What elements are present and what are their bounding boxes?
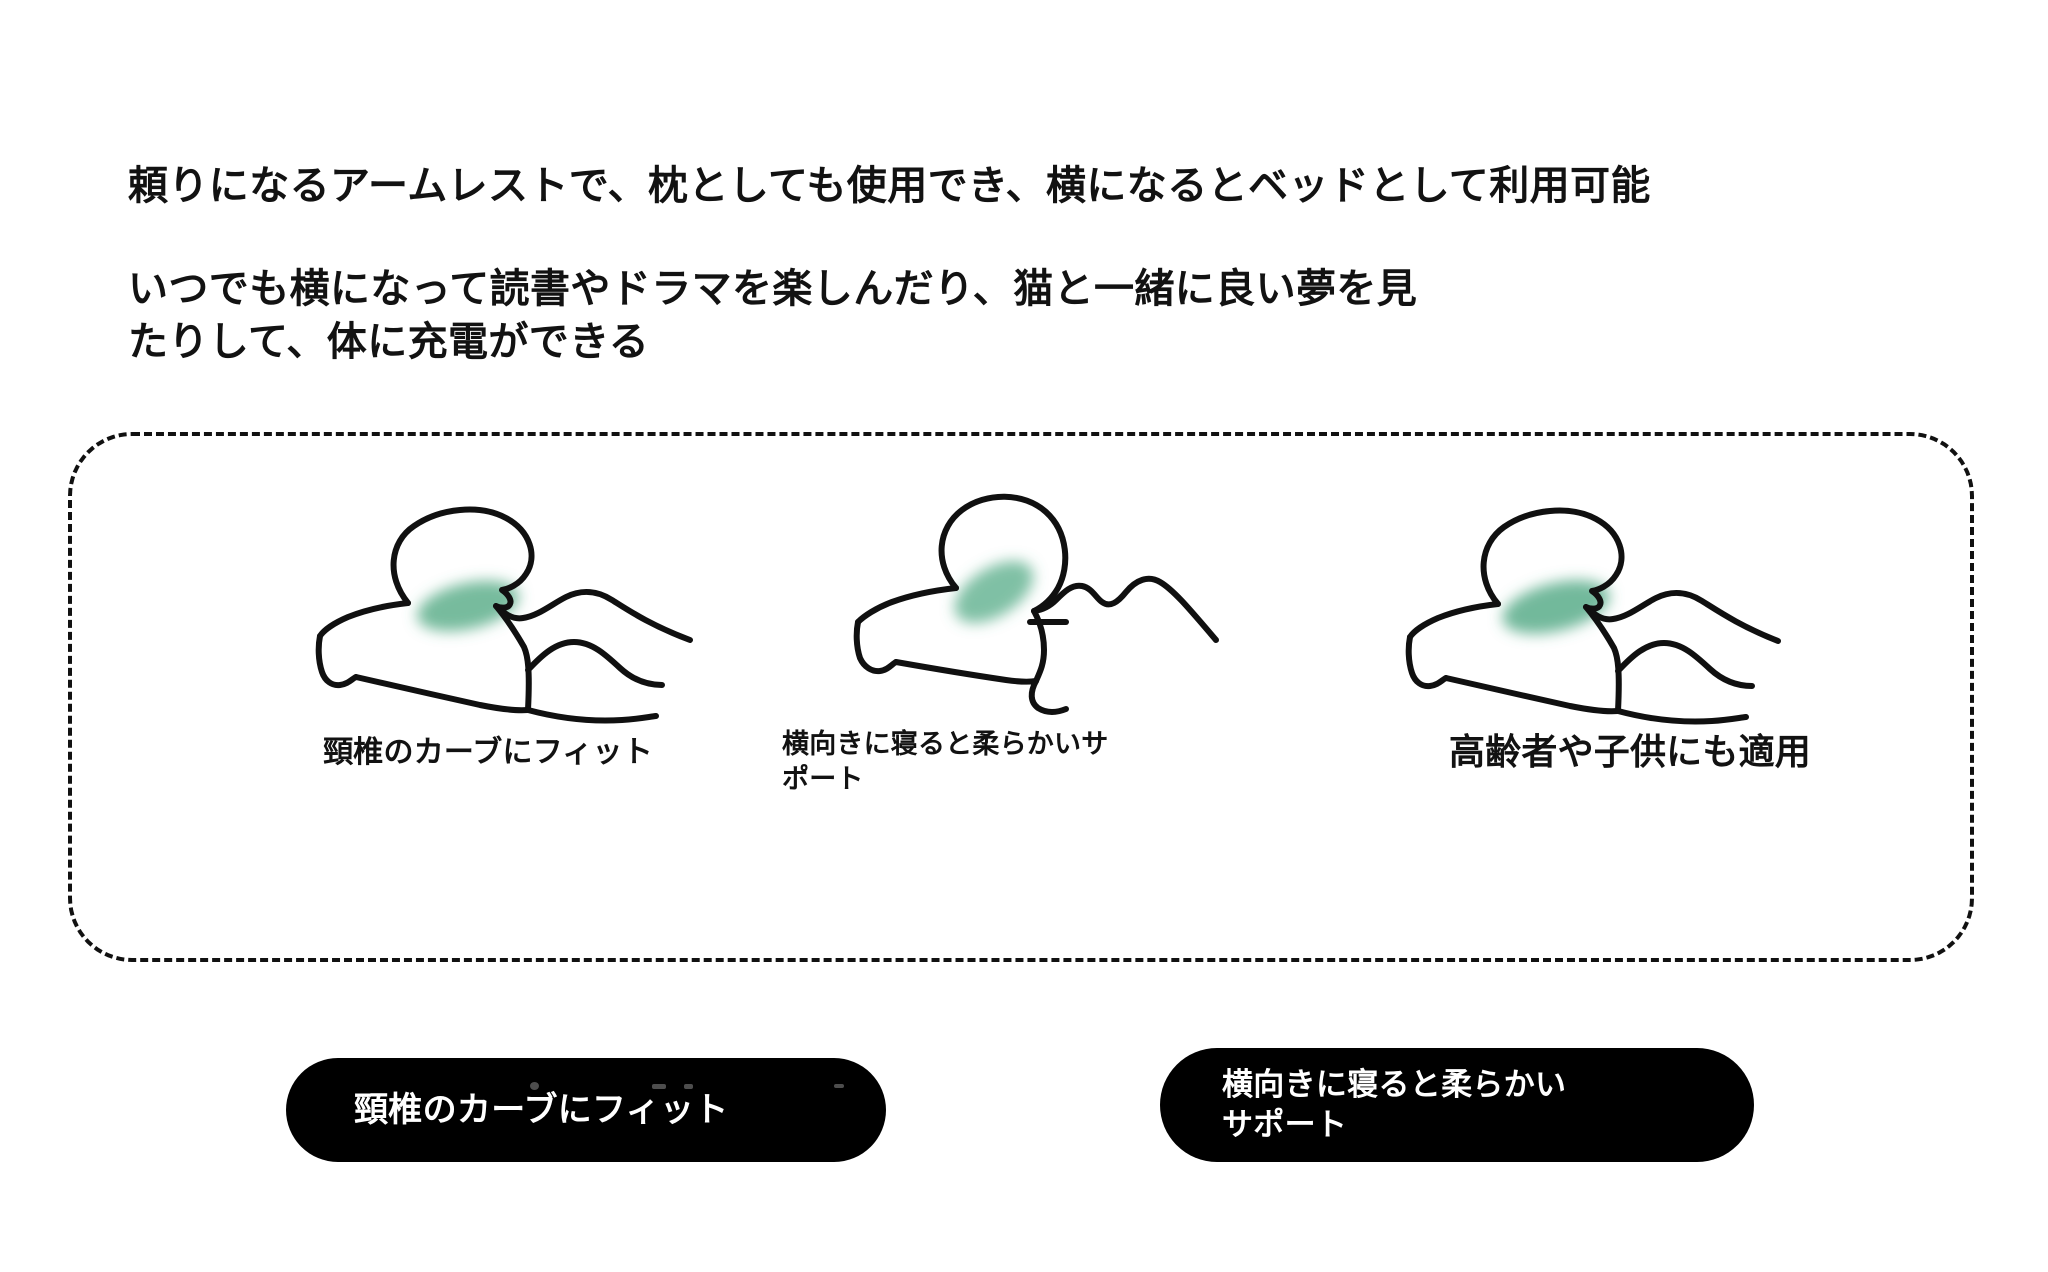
feature-panel: 頸椎のカーブにフィット bbox=[68, 432, 1974, 962]
pill-button-cervical-fit[interactable]: 頸椎のカーブにフィット bbox=[286, 1058, 886, 1162]
pill-button-side-sleep-support[interactable]: 横向きに寝ると柔らかい サポート bbox=[1160, 1048, 1754, 1162]
feature-card-1-caption: 頸椎のカーブにフィット bbox=[323, 734, 653, 772]
page-root: 頼りになるアームレストで、枕としても使用でき、横になるとベッドとして利用可能 い… bbox=[0, 0, 2048, 1272]
pill-button-side-sleep-support-label-line-1: 横向きに寝ると柔らかい bbox=[1222, 1065, 1642, 1105]
artifact-speck bbox=[834, 1084, 844, 1088]
feature-card-3: 高齢者や子供にも適用 bbox=[1336, 470, 1896, 776]
feature-card-2: 横向きに寝ると柔らかいサ ポート bbox=[764, 470, 1324, 797]
artifact-speck bbox=[684, 1084, 693, 1089]
pill-button-cervical-fit-label: 頸椎のカーブにフィット bbox=[354, 1090, 729, 1131]
head-on-pillow-back-sleeping-icon bbox=[290, 470, 710, 720]
feature-card-2-caption: 横向きに寝ると柔らかいサ ポート bbox=[782, 728, 1162, 797]
feature-card-2-caption-line-1: 横向きに寝ると柔らかいサ bbox=[782, 729, 1108, 760]
feature-card-2-caption-line-2: ポート bbox=[782, 764, 864, 795]
head-on-pillow-elderly-child-icon bbox=[1406, 470, 1826, 720]
page-subheadline: いつでも横になって読書やドラマを楽しんだり、猫と一緒に良い夢を見 たりして、体に… bbox=[128, 263, 1328, 370]
pill-button-side-sleep-support-label-line-2: サポート bbox=[1222, 1105, 1642, 1145]
pill-button-side-sleep-support-label: 横向きに寝ると柔らかい サポート bbox=[1222, 1065, 1642, 1146]
subheadline-line-1: いつでも横になって読書やドラマを楽しんだり、猫と一緒に良い夢を見 bbox=[128, 263, 1328, 317]
feature-grid: 頸椎のカーブにフィット bbox=[72, 436, 1970, 958]
artifact-speck bbox=[652, 1084, 666, 1089]
headline-block: 頼りになるアームレストで、枕としても使用でき、横になるとベッドとして利用可能 い… bbox=[128, 160, 1728, 370]
feature-card-1: 頸椎のカーブにフィット bbox=[240, 470, 760, 772]
feature-card-3-caption: 高齢者や子供にも適用 bbox=[1449, 730, 1811, 776]
page-headline: 頼りになるアームレストで、枕としても使用でき、横になるとベッドとして利用可能 bbox=[128, 160, 1728, 213]
artifact-speck bbox=[530, 1082, 539, 1090]
head-on-pillow-side-sleeping-icon bbox=[834, 470, 1254, 720]
subheadline-line-2: たりして、体に充電ができる bbox=[128, 316, 1328, 370]
